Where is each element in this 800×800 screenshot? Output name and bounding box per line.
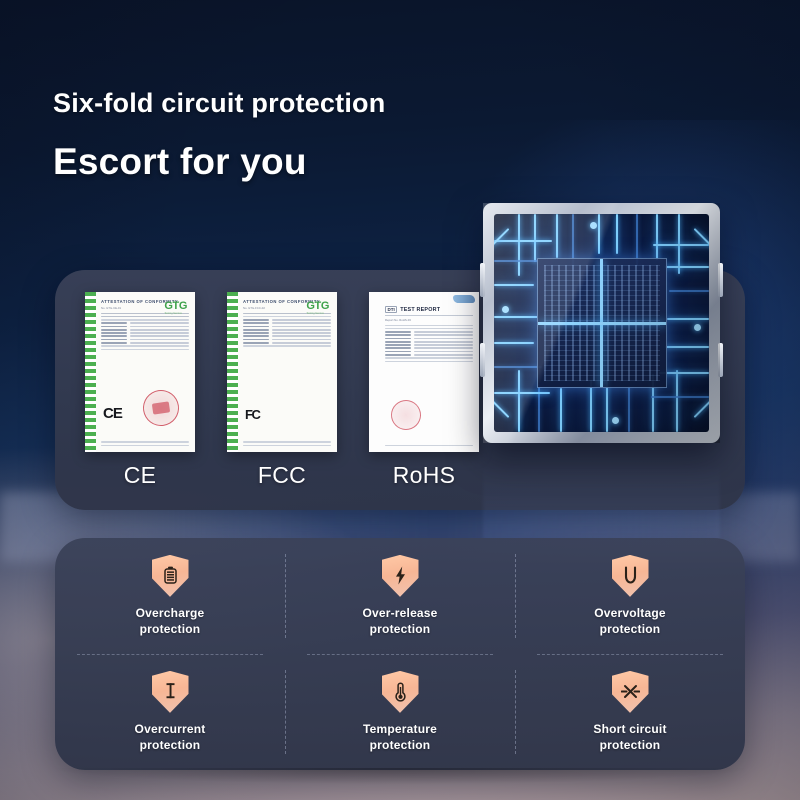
voltage-u-icon [612, 555, 649, 597]
protection-features-grid: Overcharge protection Over-release prote… [55, 538, 745, 770]
feature-short-circuit: Short circuit protection [515, 654, 745, 770]
promo-image: Six-fold circuit protection Escort for y… [0, 0, 800, 800]
chip-circuit-board [494, 214, 709, 432]
certificate-body: GTG Testing Service ATTESTATION OF CONFO… [243, 298, 331, 448]
certificate-logo-subtext: Testing Service [306, 312, 329, 315]
feature-label: Temperature protection [363, 721, 437, 753]
battery-icon [152, 555, 189, 597]
report-number: Report No. RoHS-03 [385, 318, 473, 322]
feature-label-line1: Overcurrent [135, 721, 206, 737]
ce-mark-icon: CE [103, 405, 122, 422]
feature-label-line2: protection [594, 621, 666, 637]
feature-over-release: Over-release protection [285, 538, 515, 654]
certificate-text-block [243, 313, 331, 347]
certificate-card-fcc: GTG Testing Service ATTESTATION OF CONFO… [227, 292, 337, 452]
chip-notch [480, 343, 485, 377]
certificate-body: GTG Testing Service ATTESTATION OF CONFO… [101, 298, 189, 448]
report-title: TEST REPORT [400, 307, 440, 313]
certificate-card-rohs: DTI TEST REPORT Report No. RoHS-03 [369, 292, 479, 452]
feature-label: Overcharge protection [136, 605, 205, 637]
fcc-mark-icon: FC [245, 407, 259, 422]
chip-notch [718, 343, 723, 377]
feature-temperature: Temperature protection [285, 654, 515, 770]
gtg-logo-icon: GTG Testing Service [306, 300, 329, 315]
report-text-block [385, 325, 473, 363]
certification-label-fcc: FCC [227, 462, 337, 489]
feature-label: Short circuit protection [593, 721, 666, 753]
feature-label-line2: protection [593, 737, 666, 753]
certification-label-rohs: RoHS [369, 462, 479, 489]
feature-label-line2: protection [135, 737, 206, 753]
feature-overvoltage: Overvoltage protection [515, 538, 745, 654]
chip-die [537, 258, 667, 388]
report-header: DTI TEST REPORT [385, 306, 473, 316]
certificate-stripe [85, 292, 96, 452]
certificate-logo-text: GTG [306, 300, 329, 312]
certification-labels: CE FCC RoHS [85, 462, 479, 489]
feature-label-line1: Over-release [362, 605, 437, 621]
protection-chip-image [483, 203, 720, 443]
report-tag: DTI [385, 306, 397, 313]
certificate-logo-subtext: Testing Service [164, 312, 187, 315]
certificate-footer [101, 441, 189, 448]
headline-block: Six-fold circuit protection Escort for y… [53, 88, 385, 183]
chip-reflection [483, 443, 720, 551]
current-i-icon [152, 671, 189, 713]
lightning-bolt-icon [382, 555, 419, 597]
chip-notch [718, 263, 723, 297]
feature-overcurrent: Overcurrent protection [55, 654, 285, 770]
certificate-list: GTG Testing Service ATTESTATION OF CONFO… [85, 292, 479, 452]
certificate-logo-text: GTG [164, 300, 187, 312]
feature-label-line2: protection [363, 737, 437, 753]
feature-label-line1: Temperature [363, 721, 437, 737]
gtg-logo-icon: GTG Testing Service [164, 300, 187, 315]
certificate-card-ce: GTG Testing Service ATTESTATION OF CONFO… [85, 292, 195, 452]
chip-notch [480, 263, 485, 297]
feature-label-line2: protection [362, 621, 437, 637]
report-footer [385, 445, 473, 448]
certificate-stripe [227, 292, 238, 452]
headline-primary: Escort for you [53, 141, 385, 183]
certificate-footer [243, 441, 331, 448]
feature-label-line1: Short circuit [593, 721, 666, 737]
chip-metal-frame [483, 203, 720, 443]
feature-label-line2: protection [136, 621, 205, 637]
feature-label: Over-release protection [362, 605, 437, 637]
headline-secondary: Six-fold circuit protection [53, 88, 385, 119]
certification-label-ce: CE [85, 462, 195, 489]
certificate-text-block [101, 313, 189, 351]
thermometer-icon [382, 671, 419, 713]
short-circuit-icon [612, 671, 649, 713]
feature-label: Overcurrent protection [135, 721, 206, 753]
feature-label-line1: Overvoltage [594, 605, 666, 621]
die-cross-horizontal [538, 322, 666, 325]
feature-label: Overvoltage protection [594, 605, 666, 637]
feature-label-line1: Overcharge [136, 605, 205, 621]
feature-overcharge: Overcharge protection [55, 538, 285, 654]
